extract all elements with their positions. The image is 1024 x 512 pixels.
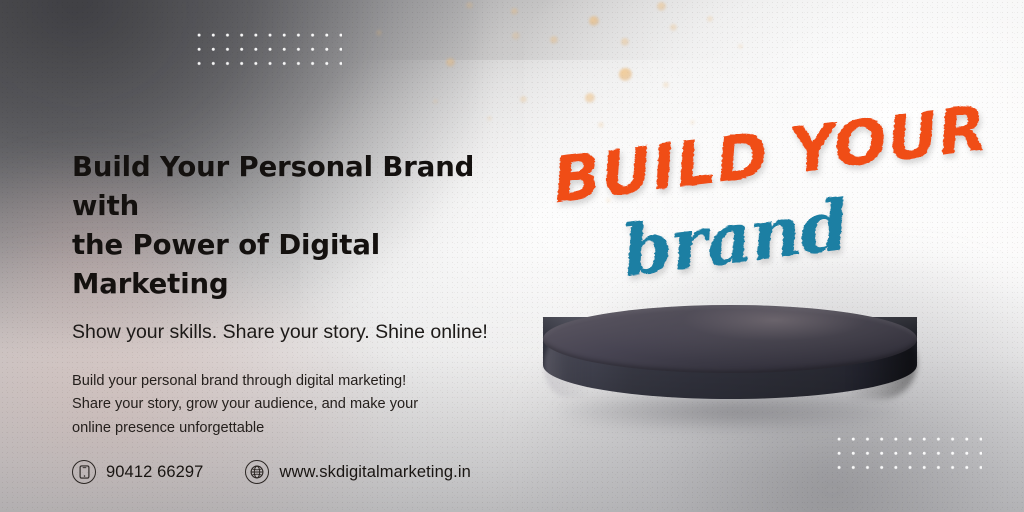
globe-icon bbox=[245, 460, 269, 484]
podium-3d bbox=[543, 305, 917, 417]
contact-website[interactable]: www.skdigitalmarketing.in bbox=[245, 460, 470, 484]
dot-grid-bottom-right-icon bbox=[830, 430, 982, 480]
confetti-particle bbox=[598, 122, 604, 128]
confetti-particle bbox=[466, 2, 473, 9]
confetti-particle bbox=[487, 116, 492, 121]
text-column: Build Your Personal Brand with the Power… bbox=[72, 148, 532, 440]
confetti-particle bbox=[550, 36, 558, 44]
confetti-particle bbox=[589, 16, 599, 26]
podium-top-rim bbox=[543, 305, 917, 373]
confetti-particle bbox=[512, 32, 520, 40]
website-url: www.skdigitalmarketing.in bbox=[279, 463, 470, 482]
confetti-particle bbox=[376, 30, 382, 36]
page-title: Build Your Personal Brand with the Power… bbox=[72, 148, 532, 304]
confetti-particle bbox=[738, 44, 743, 49]
contact-phone[interactable]: 90412 66297 bbox=[72, 460, 203, 484]
marketing-banner: Build Your Personal Brand with the Power… bbox=[0, 0, 1024, 512]
confetti-particle bbox=[585, 93, 595, 103]
description-paragraph: Build your personal brand through digita… bbox=[72, 370, 532, 441]
confetti-particle bbox=[707, 16, 713, 22]
confetti-particle bbox=[511, 8, 518, 15]
footer-contact-bar: 90412 66297 www.skdigitalmarketing.in bbox=[72, 460, 471, 484]
dot-grid-top-left-icon bbox=[190, 26, 342, 76]
tagline: Show your skills. Share your story. Shin… bbox=[72, 320, 532, 345]
phone-icon bbox=[72, 460, 96, 484]
confetti-particle bbox=[433, 99, 438, 104]
confetti-particle bbox=[520, 96, 527, 103]
brush-lettering-artwork: BUILD YOUR brand bbox=[548, 140, 948, 310]
confetti-particle bbox=[621, 38, 629, 46]
confetti-particle bbox=[670, 24, 677, 31]
confetti-particle bbox=[657, 2, 666, 11]
phone-number: 90412 66297 bbox=[106, 463, 203, 482]
brush-lettering-svg: BUILD YOUR brand bbox=[548, 140, 948, 310]
confetti-particle bbox=[619, 68, 632, 81]
confetti-particle bbox=[663, 82, 669, 88]
confetti-particle bbox=[446, 58, 455, 67]
confetti-particle bbox=[690, 120, 695, 125]
